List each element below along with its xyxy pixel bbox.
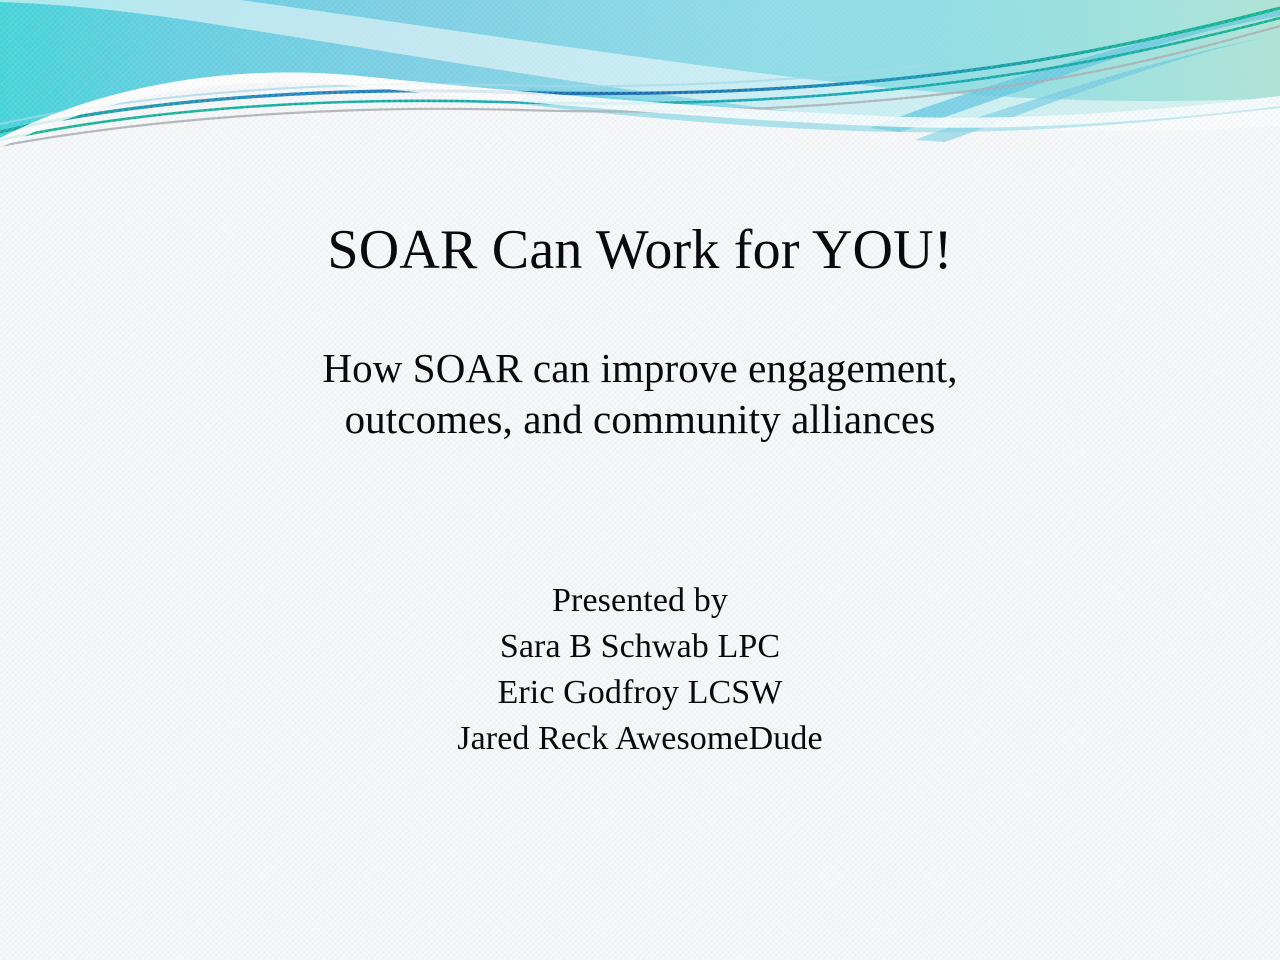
slide-content-layer: SOAR Can Work for YOU! How SOAR can impr… — [0, 0, 1280, 960]
presenter-placeholder: Presented by Sara B Schwab LPC Eric Godf… — [0, 578, 1280, 762]
subtitle-line-1: How SOAR can improve engagement, — [0, 343, 1280, 394]
presentation-slide: SOAR Can Work for YOU! How SOAR can impr… — [0, 0, 1280, 960]
subtitle-line-2: outcomes, and community alliances — [0, 394, 1280, 445]
page-title: SOAR Can Work for YOU! — [0, 219, 1280, 282]
presenter-name-2: Eric Godfroy LCSW — [0, 670, 1280, 716]
title-placeholder: SOAR Can Work for YOU! — [0, 219, 1280, 282]
presenter-name-1: Sara B Schwab LPC — [0, 624, 1280, 670]
presenter-label: Presented by — [0, 578, 1280, 624]
subtitle-placeholder: How SOAR can improve engagement, outcome… — [0, 343, 1280, 445]
presenter-name-3: Jared Reck AwesomeDude — [0, 716, 1280, 762]
